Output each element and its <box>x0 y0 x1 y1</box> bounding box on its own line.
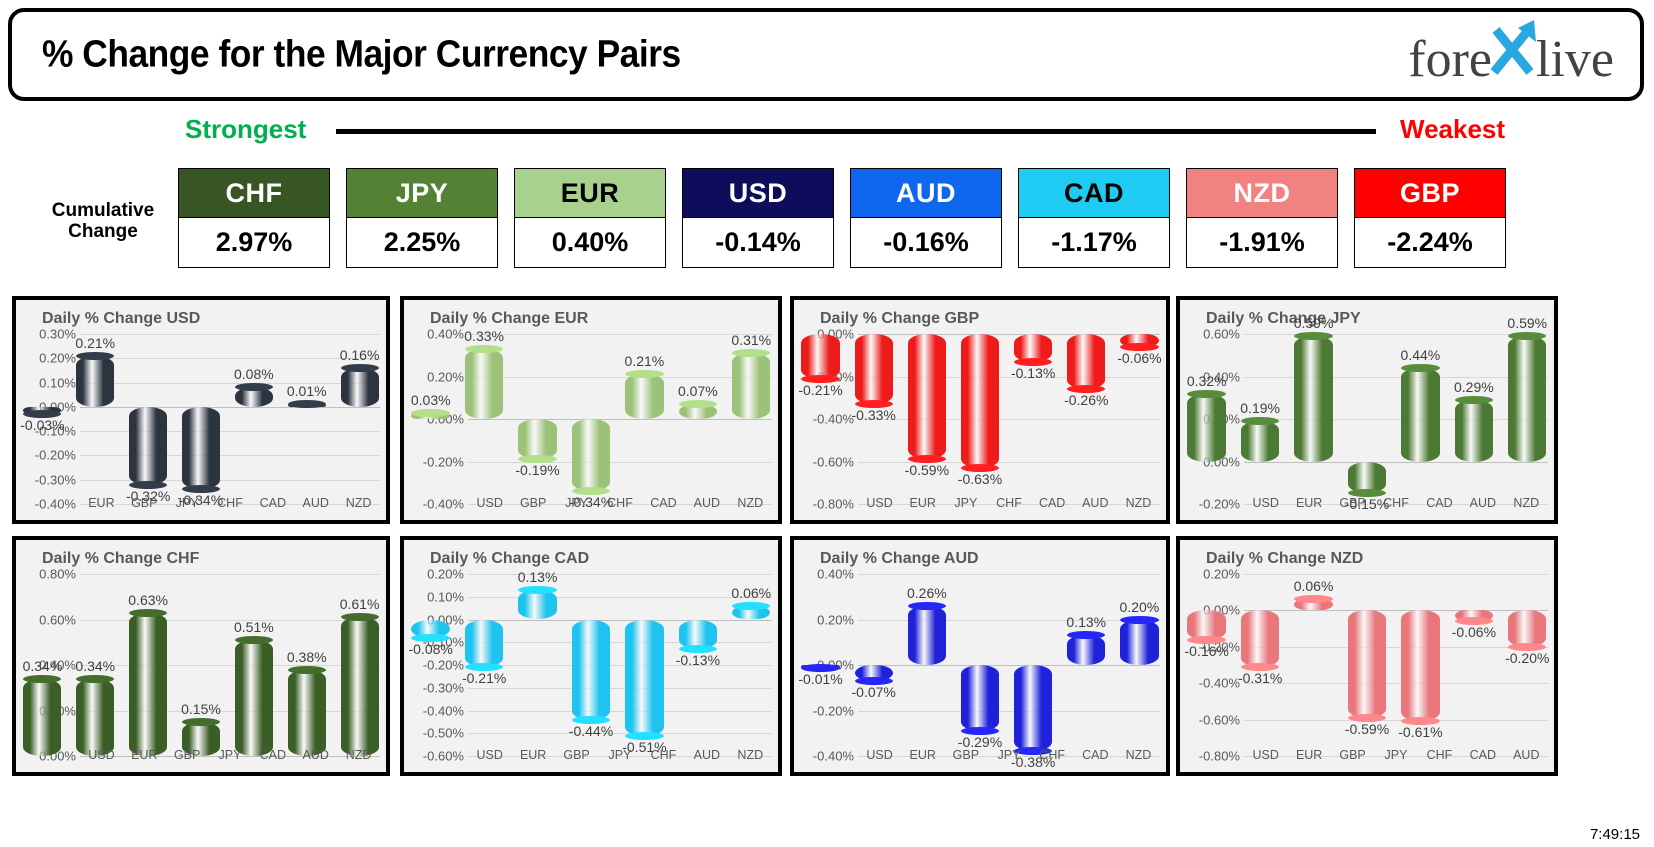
plot-area-cad: 0.20%0.10%0.00%-0.10%-0.20%-0.30%-0.40%-… <box>404 574 778 768</box>
x-tick-label: CHF <box>996 496 1022 510</box>
x-tick-label: EUR <box>1296 496 1322 510</box>
bar-cap <box>182 718 220 726</box>
bar-slot: -0.32% <box>122 334 175 496</box>
bar-eur[interactable] <box>855 334 893 404</box>
x-tick-label: JPY <box>1385 748 1408 762</box>
bar-slot: 0.38% <box>280 574 333 748</box>
data-label: -0.03% <box>20 417 64 433</box>
bar-slot: -0.63% <box>953 334 1006 496</box>
bar-cad[interactable] <box>1401 368 1439 462</box>
chart-title-eur: Daily % Change EUR <box>430 310 588 328</box>
chart-title-usd: Daily % Change USD <box>42 310 200 328</box>
bar-eur[interactable] <box>1241 610 1279 666</box>
bar-slot: -0.03% <box>16 334 69 496</box>
data-label: 0.13% <box>518 569 558 585</box>
cumulative-value-eur: 0.40% <box>514 218 666 268</box>
data-label: 0.31% <box>731 332 771 348</box>
data-label: 0.59% <box>1294 315 1334 331</box>
chart-panel-aud: Daily % Change AUD0.40%0.20%0.00%-0.20%-… <box>790 536 1170 776</box>
currency-code-jpy[interactable]: JPY <box>346 168 498 218</box>
bar-chf[interactable] <box>625 620 663 736</box>
x-tick-label: CHF <box>1427 748 1453 762</box>
x-tick-label: USD <box>477 496 503 510</box>
data-label: -0.01% <box>798 671 842 687</box>
x-tick-label: USD <box>866 496 892 510</box>
bar-eur[interactable] <box>1241 421 1279 461</box>
cumulative-label-line1: Cumulative <box>30 200 176 221</box>
chart-panel-eur: Daily % Change EUR0.40%0.20%0.00%-0.20%-… <box>400 296 782 524</box>
data-label: 0.01% <box>287 383 327 399</box>
bar-aud[interactable] <box>679 620 717 650</box>
data-label: 0.61% <box>340 596 380 612</box>
x-axis-labels-jpy: USDEURGBPCHFCADAUDNZD <box>1244 496 1548 516</box>
bar-jpy[interactable] <box>961 665 999 731</box>
bar-usd[interactable] <box>801 665 839 668</box>
bars-cad: -0.08%-0.21%0.13%-0.44%-0.51%-0.13%0.06% <box>404 574 778 748</box>
bar-cap <box>288 400 326 408</box>
bar-aud[interactable] <box>288 404 326 407</box>
bar-cap <box>1120 616 1158 624</box>
chart-panel-jpy: Daily % Change JPY0.60%0.40%0.20%0.00%-0… <box>1176 296 1558 524</box>
cumulative-change-row: Cumulative Change CHF2.97%JPY2.25%EUR0.4… <box>0 168 1654 290</box>
x-tick-label: AUD <box>694 496 720 510</box>
bar-slot: -0.26% <box>1060 334 1113 496</box>
x-tick-label: NZD <box>737 496 763 510</box>
bars-jpy: 0.32%0.19%0.59%-0.15%0.44%0.29%0.59% <box>1180 334 1554 496</box>
bar-cap <box>235 636 273 644</box>
bar-aud[interactable] <box>1455 400 1493 462</box>
bar-jpy[interactable] <box>572 620 610 720</box>
x-tick-label: CHF <box>1383 496 1409 510</box>
x-axis-labels-chf: USDEURGBPJPYCADAUDNZD <box>80 748 380 768</box>
bar-slot: 0.16% <box>333 334 386 496</box>
x-tick-label: NZD <box>1126 748 1152 762</box>
data-label: -0.16% <box>1185 643 1229 659</box>
data-label: 0.06% <box>731 585 771 601</box>
bar-cap <box>1294 332 1332 340</box>
currency-strength-column-gbp: GBP-2.24% <box>1354 168 1506 268</box>
x-tick-label: GBP <box>1339 496 1365 510</box>
data-label: -0.13% <box>1011 365 1055 381</box>
bar-cap <box>411 409 449 417</box>
currency-strength-column-usd: USD-0.14% <box>682 168 834 268</box>
x-axis-labels-usd: EURGBPJPYCHFCADAUDNZD <box>80 496 380 516</box>
data-label: -0.21% <box>798 382 842 398</box>
bar-cap <box>76 352 114 360</box>
x-tick-label: NZD <box>1126 496 1152 510</box>
bar-cad[interactable] <box>235 640 273 756</box>
x-tick-label: CHF <box>607 496 633 510</box>
bar-gbp[interactable] <box>1294 599 1332 610</box>
x-tick-label: USD <box>866 748 892 762</box>
bar-gbp[interactable] <box>908 606 946 665</box>
bar-slot: -0.13% <box>671 574 724 748</box>
bar-gbp[interactable] <box>465 349 503 419</box>
bars-nzd: -0.16%-0.31%0.06%-0.59%-0.61%-0.06%-0.20… <box>1180 574 1554 748</box>
currency-code-eur[interactable]: EUR <box>514 168 666 218</box>
bar-cap <box>76 675 114 683</box>
x-tick-label: NZD <box>1513 496 1539 510</box>
y-tick-label: -0.40% <box>35 497 76 512</box>
currency-strength-column-nzd: NZD-1.91% <box>1186 168 1338 268</box>
cumulative-label-line2: Change <box>30 221 176 242</box>
data-label: 0.34% <box>75 658 115 674</box>
bar-chf[interactable] <box>572 419 610 491</box>
x-tick-label: EUR <box>910 748 936 762</box>
bar-chf[interactable] <box>182 407 220 490</box>
bar-slot: -0.38% <box>1007 574 1060 748</box>
bar-cap <box>341 364 379 372</box>
bar-nzd[interactable] <box>1508 336 1546 461</box>
data-label: 0.32% <box>1187 373 1227 389</box>
chart-title-chf: Daily % Change CHF <box>42 550 199 568</box>
bar-chf[interactable] <box>1401 610 1439 721</box>
x-tick-label: USD <box>477 748 503 762</box>
chart-title-aud: Daily % Change AUD <box>820 550 979 568</box>
currency-code-aud[interactable]: AUD <box>850 168 1002 218</box>
bar-usd[interactable] <box>411 413 449 419</box>
currency-strength-column-aud: AUD-0.16% <box>850 168 1002 268</box>
bar-cap <box>908 602 946 610</box>
cumulative-value-cad: -1.17% <box>1018 218 1170 268</box>
bar-cap <box>518 586 556 594</box>
data-label: 0.21% <box>75 335 115 351</box>
data-label: 0.44% <box>1401 347 1441 363</box>
bar-cap <box>1455 396 1493 404</box>
data-label: -0.31% <box>1238 670 1282 686</box>
bar-slot: 0.13% <box>1060 574 1113 748</box>
forexlive-logo: forelive <box>1408 24 1614 86</box>
x-tick-label: CAD <box>1039 496 1065 510</box>
chart-title-cad: Daily % Change CAD <box>430 550 589 568</box>
bar-gbp[interactable] <box>1294 336 1332 461</box>
logo-text-left: fore <box>1408 31 1492 88</box>
chart-panel-chf: Daily % Change CHF0.80%0.60%0.40%0.20%0.… <box>12 536 390 776</box>
bar-slot: 0.44% <box>1394 334 1447 496</box>
bar-usd[interactable] <box>1187 394 1225 462</box>
x-axis-labels-aud: USDEURGBPJPYCHFCADNZD <box>858 748 1160 768</box>
x-tick-label: USD <box>1253 748 1279 762</box>
bar-slot: -0.33% <box>847 334 900 496</box>
currency-strength-column-jpy: JPY2.25% <box>346 168 498 268</box>
bar-slot: 0.29% <box>1447 334 1500 496</box>
bar-aud[interactable] <box>1067 334 1105 389</box>
bar-aud[interactable] <box>679 404 717 419</box>
data-label: 0.19% <box>1240 400 1280 416</box>
bar-nzd[interactable] <box>732 606 770 620</box>
data-label: 0.33% <box>464 328 504 344</box>
x-tick-label: AUD <box>694 748 720 762</box>
bar-slot: -0.19% <box>511 334 564 496</box>
x-tick-label: CAD <box>1470 748 1496 762</box>
bar-slot: -0.34% <box>175 334 228 496</box>
plot-area-aud: 0.40%0.20%0.00%-0.20%-0.40%-0.01%-0.07%0… <box>794 574 1166 768</box>
x-tick-label: AUD <box>303 496 329 510</box>
bar-slot: 0.06% <box>725 574 778 748</box>
y-tick-label: -0.40% <box>813 749 854 764</box>
logo-text-right: live <box>1536 31 1614 88</box>
bar-chf[interactable] <box>1348 462 1386 494</box>
bar-slot: 0.19% <box>1233 334 1286 496</box>
bar-usd[interactable] <box>1187 610 1225 639</box>
bar-cap <box>1187 390 1225 398</box>
x-tick-label: NZD <box>346 748 372 762</box>
data-label: 0.21% <box>625 353 665 369</box>
x-tick-label: CHF <box>1039 748 1065 762</box>
bar-slot: -0.61% <box>1394 574 1447 748</box>
x-tick-label: EUR <box>520 748 546 762</box>
cumulative-value-chf: 2.97% <box>178 218 330 268</box>
data-label: 0.59% <box>1507 315 1547 331</box>
bar-slot: 0.51% <box>227 574 280 748</box>
y-tick-label: -0.40% <box>423 497 464 512</box>
bar-slot: -0.44% <box>564 574 617 748</box>
bar-aud[interactable] <box>1508 610 1546 646</box>
plot-area-chf: 0.80%0.60%0.40%0.20%0.00%0.34%0.34%0.63%… <box>16 574 386 768</box>
bar-slot: 0.21% <box>69 334 122 496</box>
currency-strength-column-eur: EUR0.40% <box>514 168 666 268</box>
bar-cad[interactable] <box>235 387 273 406</box>
bar-eur[interactable] <box>23 407 61 414</box>
x-tick-label: CAD <box>260 748 286 762</box>
x-tick-label: USD <box>88 748 114 762</box>
x-tick-label: EUR <box>910 496 936 510</box>
bar-slot: 0.59% <box>1287 334 1340 496</box>
bars-gbp: -0.21%-0.33%-0.59%-0.63%-0.13%-0.26%-0.0… <box>794 334 1166 496</box>
page-title: % Change for the Major Currency Pairs <box>42 33 681 76</box>
x-axis-labels-gbp: USDEURJPYCHFCADAUDNZD <box>858 496 1160 516</box>
bar-slot: -0.16% <box>1180 574 1233 748</box>
bar-chf[interactable] <box>961 334 999 468</box>
timestamp: 7:49:15 <box>1590 826 1640 843</box>
logo-x-arrow-icon <box>1492 24 1536 76</box>
x-tick-label: AUD <box>1082 496 1108 510</box>
currency-code-nzd[interactable]: NZD <box>1186 168 1338 218</box>
x-tick-label: JPY <box>219 748 242 762</box>
bar-slot: -0.59% <box>900 334 953 496</box>
currency-strength-column-cad: CAD-1.17% <box>1018 168 1170 268</box>
x-tick-label: GBP <box>174 748 200 762</box>
bar-cap <box>1067 631 1105 639</box>
data-label: -0.63% <box>958 471 1002 487</box>
bar-jpy[interactable] <box>129 407 167 485</box>
data-label: 0.63% <box>128 592 168 608</box>
bar-slot: 0.13% <box>511 574 564 748</box>
bar-jpy[interactable] <box>1348 610 1386 717</box>
data-label: -0.06% <box>1117 350 1161 366</box>
chart-panel-gbp: Daily % Change GBP0.00%-0.20%-0.40%-0.60… <box>790 296 1170 524</box>
bar-jpy[interactable] <box>908 334 946 459</box>
bar-slot: 0.26% <box>900 574 953 748</box>
bar-cap <box>1401 364 1439 372</box>
currency-code-chf[interactable]: CHF <box>178 168 330 218</box>
bar-slot: -0.59% <box>1340 574 1393 748</box>
currency-strength-column-chf: CHF2.97% <box>178 168 330 268</box>
bar-slot: -0.15% <box>1340 334 1393 496</box>
bar-eur[interactable] <box>76 679 114 756</box>
x-tick-label: EUR <box>88 496 114 510</box>
data-label: -0.19% <box>515 462 559 478</box>
data-label: -0.08% <box>409 641 453 657</box>
x-tick-label: USD <box>1253 496 1279 510</box>
bar-cad[interactable] <box>1455 610 1493 621</box>
bar-jpy[interactable] <box>518 419 556 459</box>
bar-gbp[interactable] <box>76 356 114 407</box>
bar-cap <box>1294 595 1332 603</box>
bar-eur[interactable] <box>465 620 503 668</box>
bar-slot: 0.33% <box>457 334 510 496</box>
data-label: -0.21% <box>462 670 506 686</box>
bar-slot: -0.51% <box>618 574 671 748</box>
bar-slot: 0.15% <box>175 574 228 748</box>
bars-aud: -0.01%-0.07%0.26%-0.29%-0.38%0.13%0.20% <box>794 574 1166 748</box>
plot-area-usd: 0.30%0.20%0.10%0.00%-0.10%-0.20%-0.30%-0… <box>16 334 386 516</box>
plot-area-nzd: 0.20%0.00%-0.20%-0.40%-0.60%-0.80%-0.16%… <box>1180 574 1554 768</box>
bar-cad[interactable] <box>1014 334 1052 362</box>
bar-slot: 0.32% <box>1180 334 1233 496</box>
data-label: 0.03% <box>411 392 451 408</box>
bar-slot: 0.01% <box>280 334 333 496</box>
bar-cap <box>732 349 770 357</box>
cumulative-change-label: Cumulative Change <box>30 200 176 242</box>
header-banner: % Change for the Major Currency Pairs fo… <box>8 8 1644 101</box>
bar-slot: -0.21% <box>457 574 510 748</box>
bar-cap <box>129 609 167 617</box>
bar-nzd[interactable] <box>341 368 379 407</box>
bar-slot: 0.08% <box>227 334 280 496</box>
bar-nzd[interactable] <box>341 617 379 756</box>
bar-slot: 0.03% <box>404 334 457 496</box>
chart-title-nzd: Daily % Change NZD <box>1206 550 1363 568</box>
chart-title-gbp: Daily % Change GBP <box>820 310 979 328</box>
currency-code-cad[interactable]: CAD <box>1018 168 1170 218</box>
bars-usd: -0.03%0.21%-0.32%-0.34%0.08%0.01%0.16% <box>16 334 386 496</box>
plot-area-jpy: 0.60%0.40%0.20%0.00%-0.20%0.32%0.19%0.59… <box>1180 334 1554 516</box>
data-label: -0.33% <box>852 407 896 423</box>
x-tick-label: CHF <box>217 496 243 510</box>
x-tick-label: NZD <box>737 748 763 762</box>
cumulative-value-aud: -0.16% <box>850 218 1002 268</box>
bar-slot: 0.06% <box>1287 574 1340 748</box>
bar-slot: -0.34% <box>564 334 617 496</box>
bar-usd[interactable] <box>411 620 449 638</box>
x-tick-label: EUR <box>131 748 157 762</box>
bar-slot: -0.21% <box>794 334 847 496</box>
data-label: -0.59% <box>1345 721 1389 737</box>
bar-slot: 0.21% <box>618 334 671 496</box>
bar-eur[interactable] <box>855 665 893 681</box>
bar-cap <box>1241 417 1279 425</box>
bar-nzd[interactable] <box>732 353 770 419</box>
x-tick-label: GBP <box>1339 748 1365 762</box>
bar-slot: 0.59% <box>1501 334 1554 496</box>
bar-slot: 0.61% <box>333 574 386 748</box>
data-label: -0.06% <box>1452 624 1496 640</box>
x-axis-labels-eur: USDGBPJPYCHFCADAUDNZD <box>468 496 772 516</box>
bar-cap <box>732 602 770 610</box>
data-label: 0.34% <box>23 658 63 674</box>
bar-slot: 0.63% <box>122 574 175 748</box>
bar-chf[interactable] <box>1014 665 1052 751</box>
currency-code-usd[interactable]: USD <box>682 168 834 218</box>
bar-nzd[interactable] <box>1120 620 1158 666</box>
data-label: -0.20% <box>1505 650 1549 666</box>
bar-nzd[interactable] <box>1120 334 1158 347</box>
bar-usd[interactable] <box>23 679 61 756</box>
bar-slot: 0.31% <box>725 334 778 496</box>
x-axis-labels-nzd: USDEURGBPJPYCHFCADAUD <box>1244 748 1548 768</box>
x-tick-label: GBP <box>953 748 979 762</box>
bar-cad[interactable] <box>1067 635 1105 665</box>
bar-slot: -0.06% <box>1113 334 1166 496</box>
bar-cad[interactable] <box>625 374 663 419</box>
data-label: -0.44% <box>569 723 613 739</box>
x-tick-label: GBP <box>131 496 157 510</box>
data-label: 0.26% <box>907 585 947 601</box>
bar-slot: 0.34% <box>69 574 122 748</box>
currency-code-gbp[interactable]: GBP <box>1354 168 1506 218</box>
data-label: 0.08% <box>234 366 274 382</box>
cumulative-value-nzd: -1.91% <box>1186 218 1338 268</box>
x-tick-label: JPY <box>998 748 1021 762</box>
bar-cap <box>341 613 379 621</box>
data-label: 0.07% <box>678 383 718 399</box>
bar-aud[interactable] <box>288 670 326 756</box>
chart-panel-usd: Daily % Change USD0.30%0.20%0.10%0.00%-0… <box>12 296 390 524</box>
data-label: 0.51% <box>234 619 274 635</box>
x-axis-labels-cad: USDEURGBPJPYCHFAUDNZD <box>468 748 772 768</box>
bar-usd[interactable] <box>801 334 839 379</box>
data-label: -0.13% <box>676 652 720 668</box>
x-tick-label: AUD <box>1470 496 1496 510</box>
bar-slot: -0.08% <box>404 574 457 748</box>
bar-cap <box>625 370 663 378</box>
x-tick-label: EUR <box>1296 748 1322 762</box>
data-label: 0.38% <box>287 649 327 665</box>
bar-slot: -0.01% <box>794 574 847 748</box>
chart-title-jpy: Daily % Change JPY <box>1206 310 1361 328</box>
x-tick-label: AUD <box>1513 748 1539 762</box>
bar-cap <box>679 400 717 408</box>
x-tick-label: CAD <box>650 496 676 510</box>
bars-chf: 0.34%0.34%0.63%0.15%0.51%0.38%0.61% <box>16 574 386 748</box>
plot-area-gbp: 0.00%-0.20%-0.40%-0.60%-0.80%-0.21%-0.33… <box>794 334 1166 516</box>
data-label: -0.26% <box>1064 392 1108 408</box>
bar-gbp[interactable] <box>129 613 167 756</box>
x-tick-label: CAD <box>1082 748 1108 762</box>
bar-slot: -0.06% <box>1447 574 1500 748</box>
data-label: 0.06% <box>1294 578 1334 594</box>
bar-slot: 0.20% <box>1113 574 1166 748</box>
data-label: 0.20% <box>1120 599 1160 615</box>
strength-rail: Strongest Weakest <box>0 112 1654 154</box>
data-label: -0.59% <box>905 462 949 478</box>
bar-slot: -0.13% <box>1007 334 1060 496</box>
x-tick-label: JPY <box>176 496 199 510</box>
data-label: 0.13% <box>1066 614 1106 630</box>
x-tick-label: JPY <box>609 748 632 762</box>
bar-gbp[interactable] <box>518 590 556 620</box>
bar-slot: 0.07% <box>671 334 724 496</box>
bar-cap <box>1508 332 1546 340</box>
data-label: -0.07% <box>852 684 896 700</box>
rail-divider <box>336 129 1376 134</box>
y-tick-label: -0.60% <box>423 749 464 764</box>
x-tick-label: CHF <box>651 748 677 762</box>
data-label: 0.29% <box>1454 379 1494 395</box>
bars-eur: 0.03%0.33%-0.19%-0.34%0.21%0.07%0.31% <box>404 334 778 496</box>
cumulative-value-gbp: -2.24% <box>1354 218 1506 268</box>
